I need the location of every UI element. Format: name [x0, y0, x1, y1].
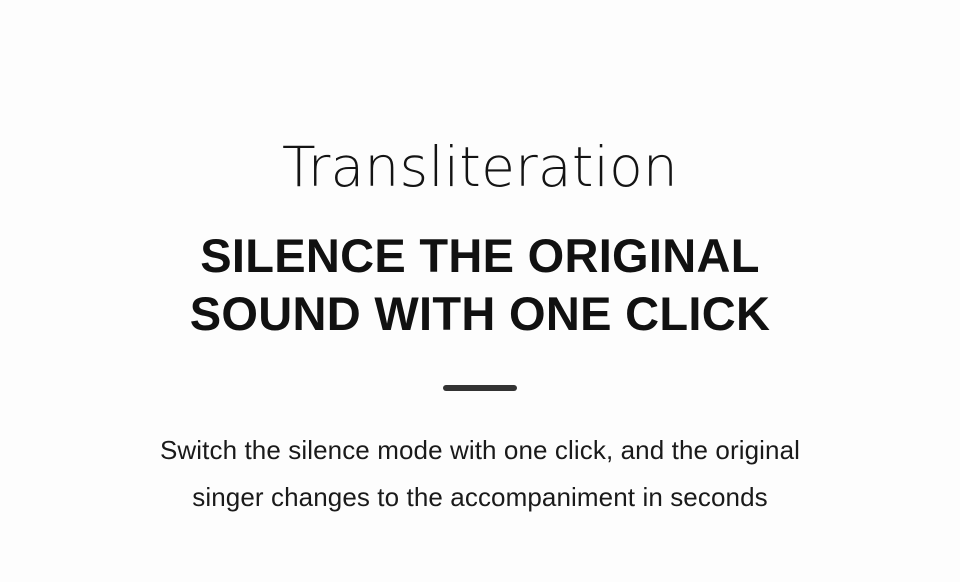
headline-divider-rule — [443, 385, 517, 391]
feature-promo-panel: Transliteration SILENCE THE ORIGINAL SOU… — [0, 0, 960, 582]
feature-subcopy: Switch the silence mode with one click, … — [160, 427, 800, 521]
feature-headline: SILENCE THE ORIGINAL SOUND WITH ONE CLIC… — [190, 227, 770, 343]
feature-eyebrow-title: Transliteration — [282, 140, 678, 195]
feature-subcopy-line-1: Switch the silence mode with one click, … — [160, 427, 800, 474]
feature-subcopy-line-2: singer changes to the accompaniment in s… — [160, 474, 800, 521]
feature-headline-line-1: SILENCE THE ORIGINAL — [190, 227, 770, 285]
feature-headline-line-2: SOUND WITH ONE CLICK — [190, 285, 770, 343]
